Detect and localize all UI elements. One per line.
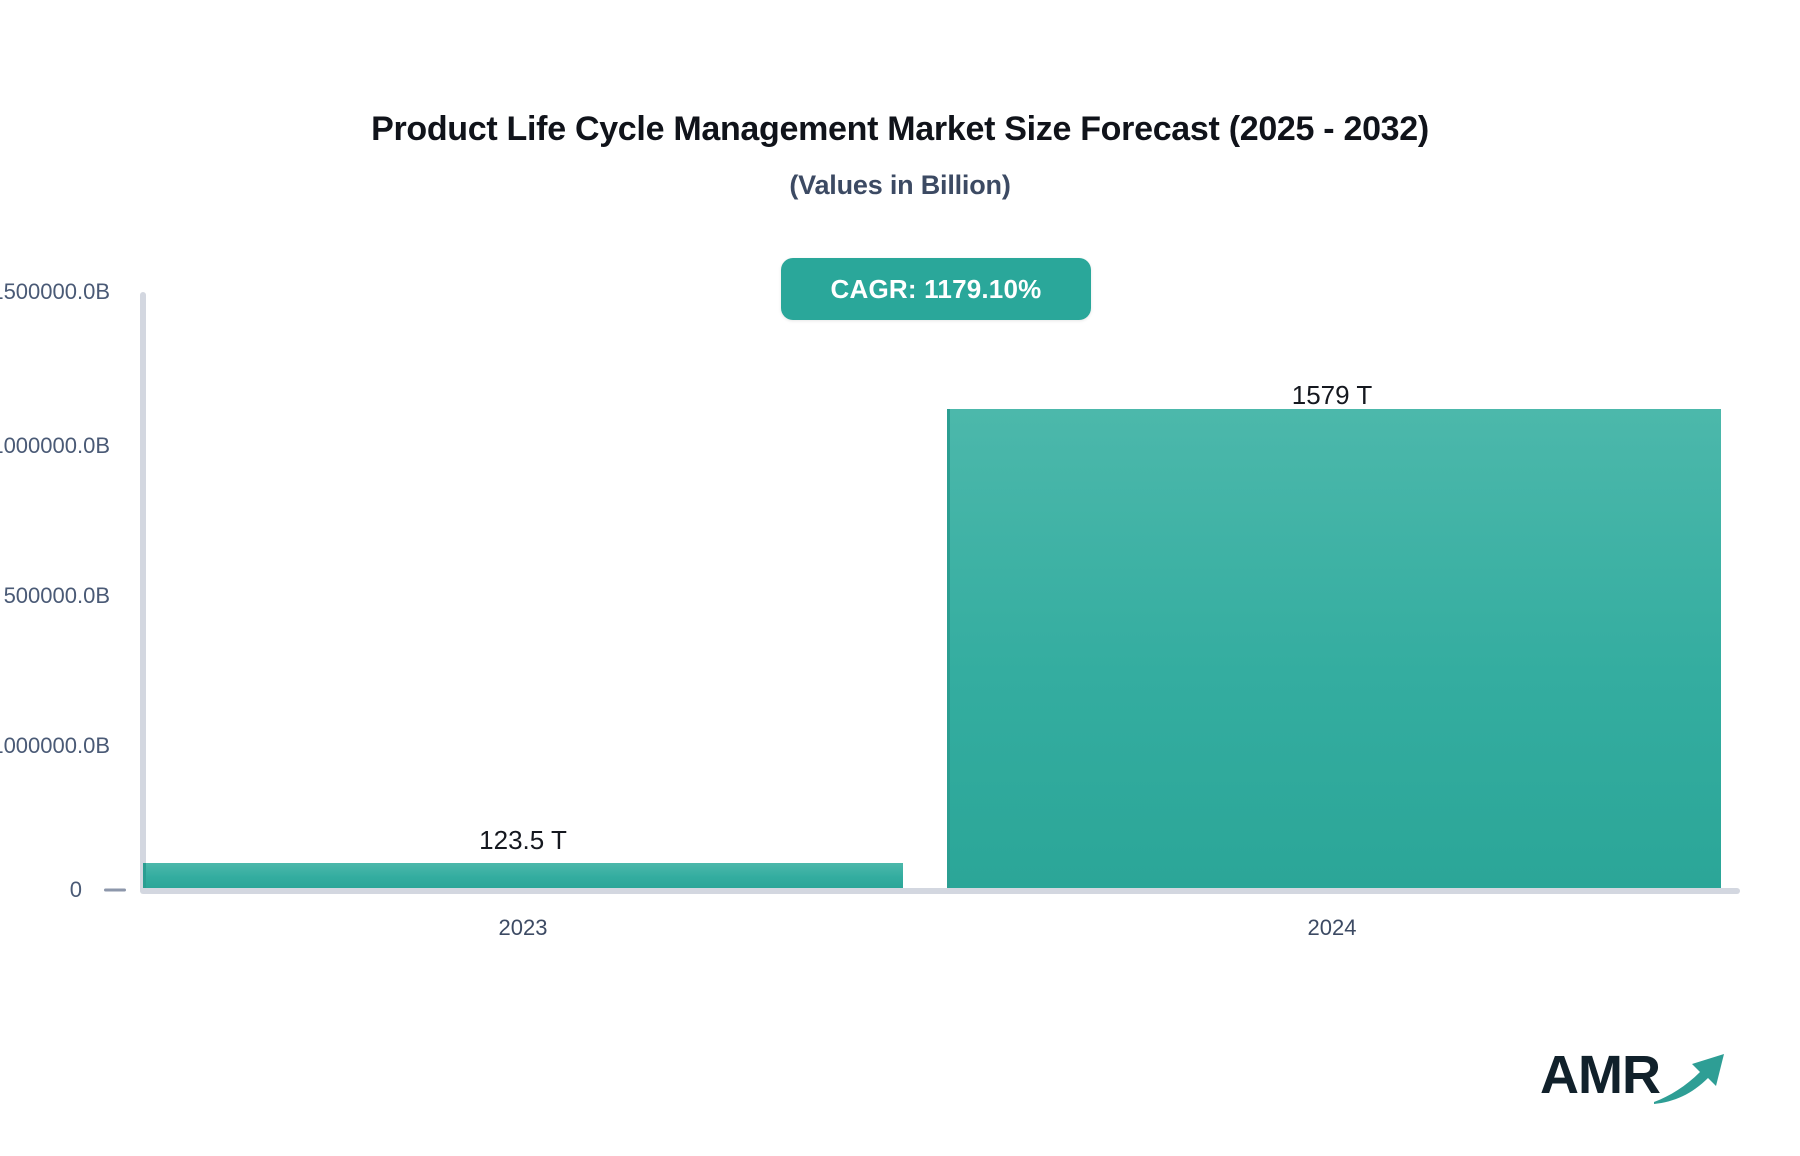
y-tick-label-3: 1500000.0B bbox=[0, 279, 110, 305]
x-tick-label-2023: 2023 bbox=[499, 915, 548, 941]
amr-logo-text: AMR bbox=[1540, 1044, 1660, 1106]
y-tick-label-zero: 0 bbox=[70, 877, 82, 903]
y-tick-label-0b: 1000000.0B bbox=[0, 733, 110, 759]
bar-2024[interactable] bbox=[947, 409, 1721, 888]
amr-logo: AMR bbox=[1540, 1040, 1730, 1116]
y-axis-line bbox=[140, 292, 146, 893]
y-tick-label-1: 500000.0B bbox=[4, 583, 110, 609]
y-tick-label-2: 1000000.0B bbox=[0, 433, 110, 459]
x-axis-line bbox=[140, 888, 1740, 894]
chart-plot-area: 1500000.0B 1000000.0B 500000.0B 1000000.… bbox=[0, 0, 1800, 1156]
bar-value-2023: 123.5 T bbox=[479, 825, 567, 856]
x-tick-label-2024: 2024 bbox=[1308, 915, 1357, 941]
y-tick-dash-zero bbox=[104, 889, 126, 892]
growth-arrow-icon bbox=[1652, 1046, 1730, 1113]
bar-value-2024: 1579 T bbox=[1292, 380, 1372, 411]
bar-2023[interactable] bbox=[143, 863, 903, 888]
